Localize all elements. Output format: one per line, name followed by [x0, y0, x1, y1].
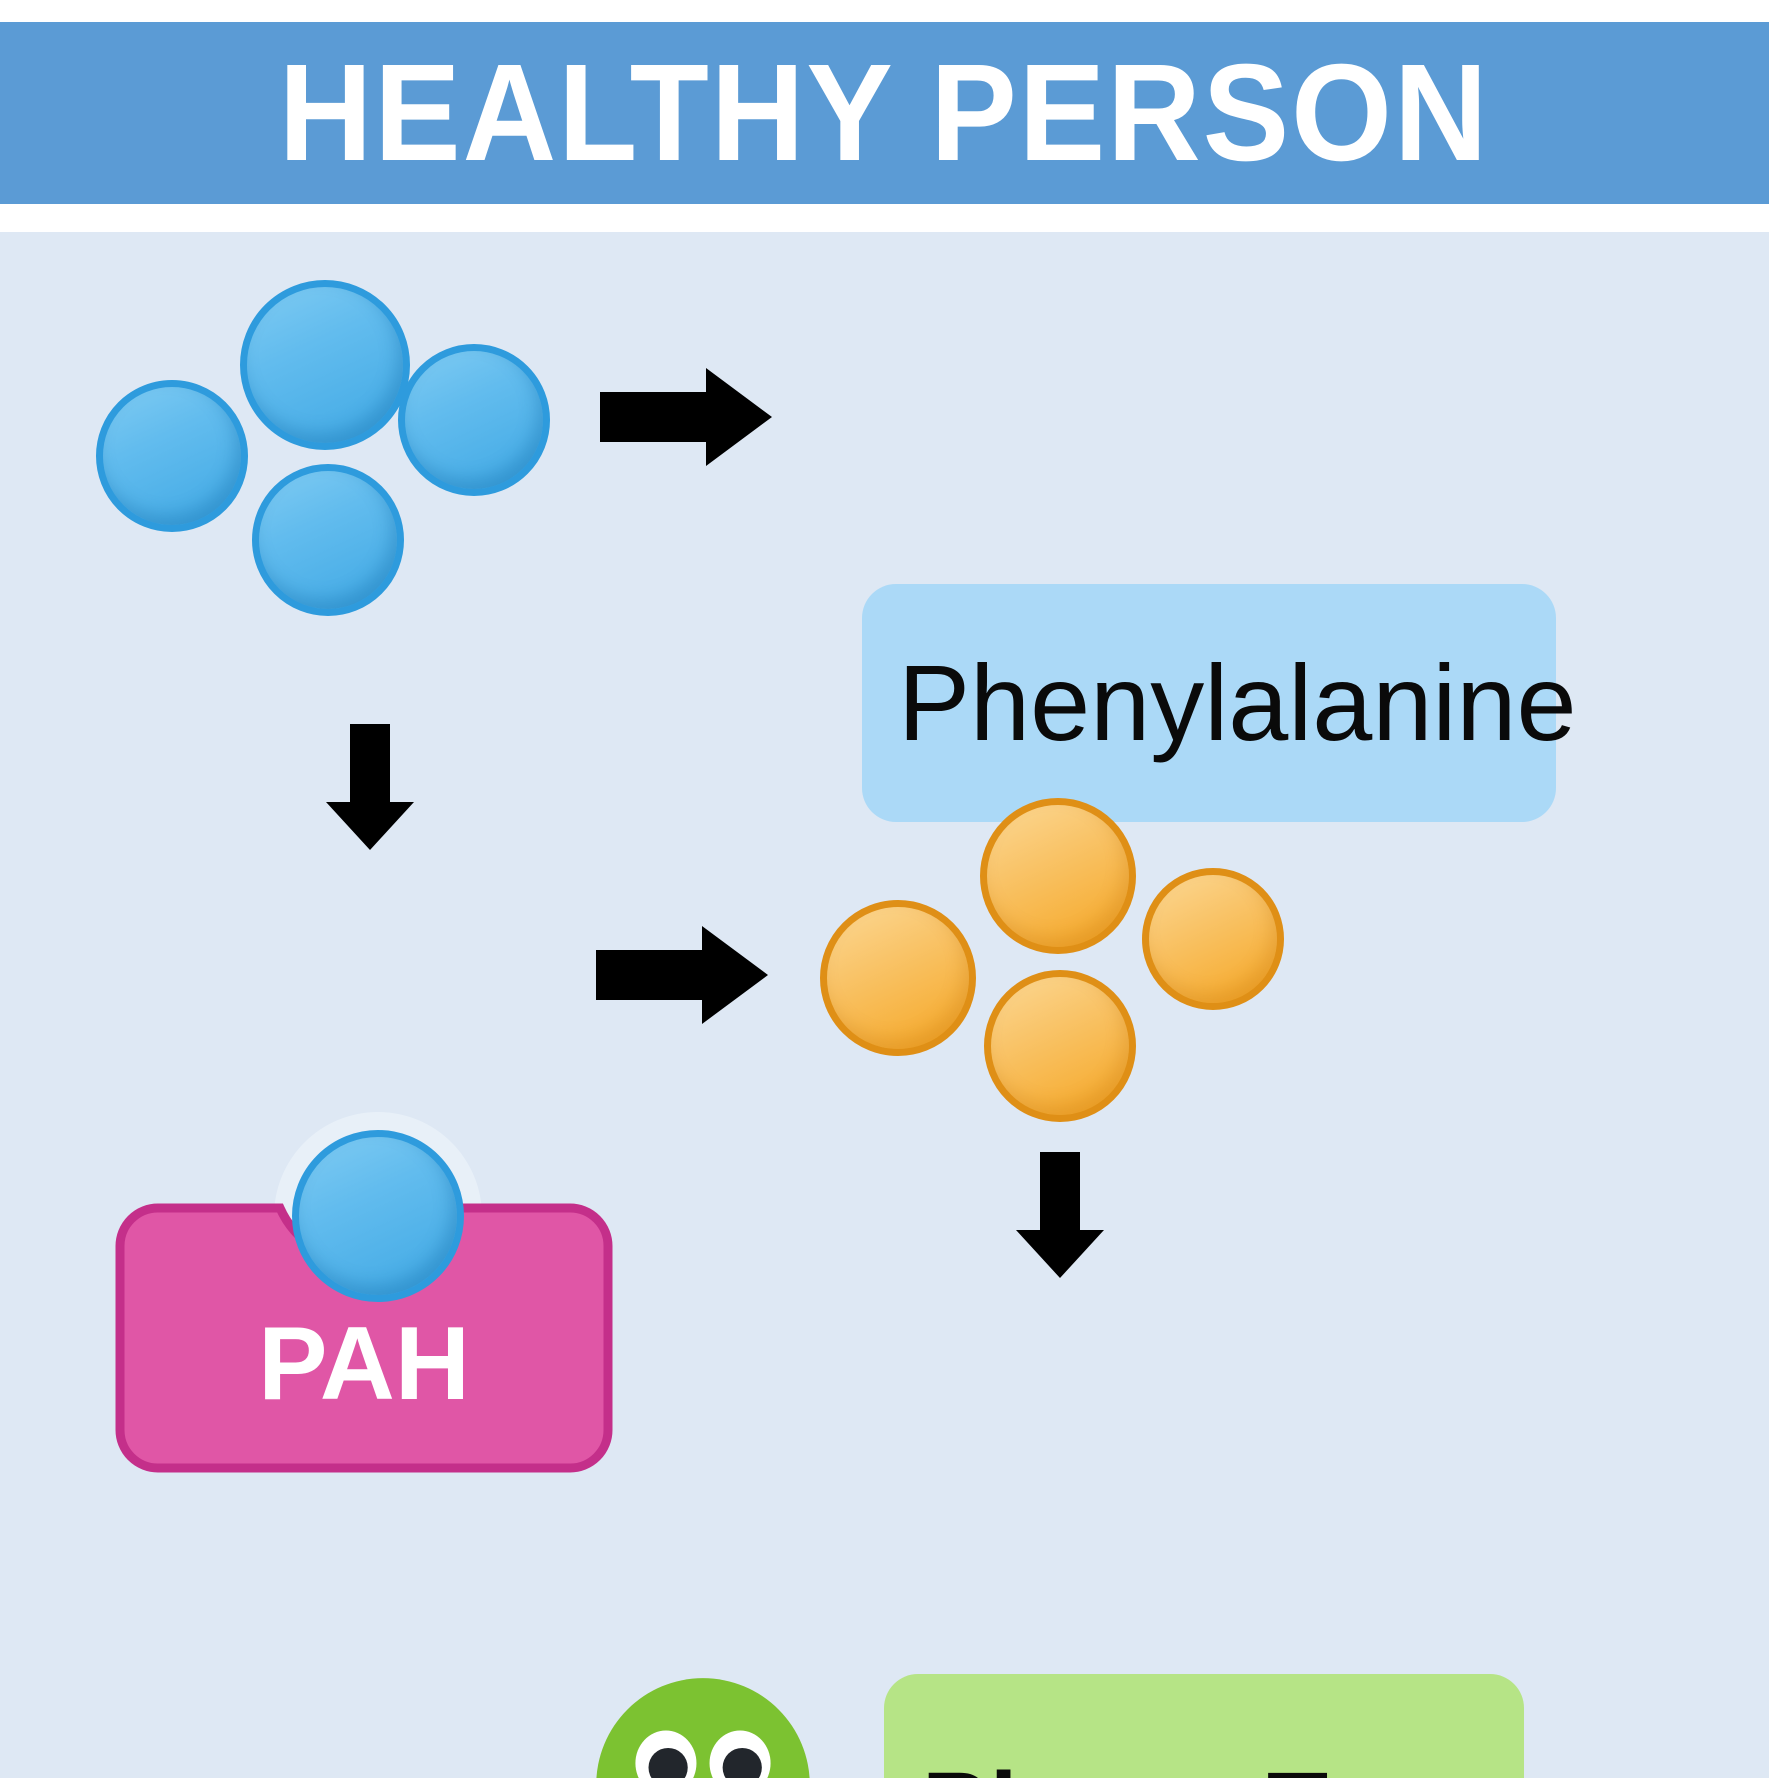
diagram-canvas: HEALTHY PERSON Phenylalanine — [0, 0, 1769, 1778]
healthy-status-smiling-face-icon — [594, 1676, 812, 1778]
arrow-pah-to-tyr-icon — [592, 920, 772, 1030]
molecule-phenylalanine-left — [96, 380, 248, 532]
arrow-tyr-to-result-icon — [1012, 1150, 1108, 1280]
phenylalanine-box: Phenylalanine — [862, 584, 1556, 822]
molecule-phenylalanine-right — [398, 344, 550, 496]
phe-tyr-result-box: Phe → Tyr — [884, 1674, 1524, 1778]
header-banner: HEALTHY PERSON — [0, 22, 1769, 204]
molecule-tyrosine-bottom — [984, 970, 1136, 1122]
molecule-phenylalanine-bound — [292, 1130, 464, 1302]
molecule-tyrosine-left — [820, 900, 976, 1056]
arrow-phe-to-label-icon — [596, 362, 776, 472]
molecule-phenylalanine-top — [240, 280, 410, 450]
diagram-panel: Phenylalanine PAH — [0, 232, 1769, 1778]
molecule-tyrosine-right — [1142, 868, 1284, 1010]
page-title: HEALTHY PERSON — [279, 44, 1490, 182]
phe-tyr-label: Phe → Tyr — [922, 1758, 1418, 1778]
phenylalanine-label: Phenylalanine — [898, 649, 1577, 757]
molecule-phenylalanine-bottom — [252, 464, 404, 616]
arrow-phe-to-pah-icon — [322, 722, 418, 852]
molecule-tyrosine-top — [980, 798, 1136, 954]
